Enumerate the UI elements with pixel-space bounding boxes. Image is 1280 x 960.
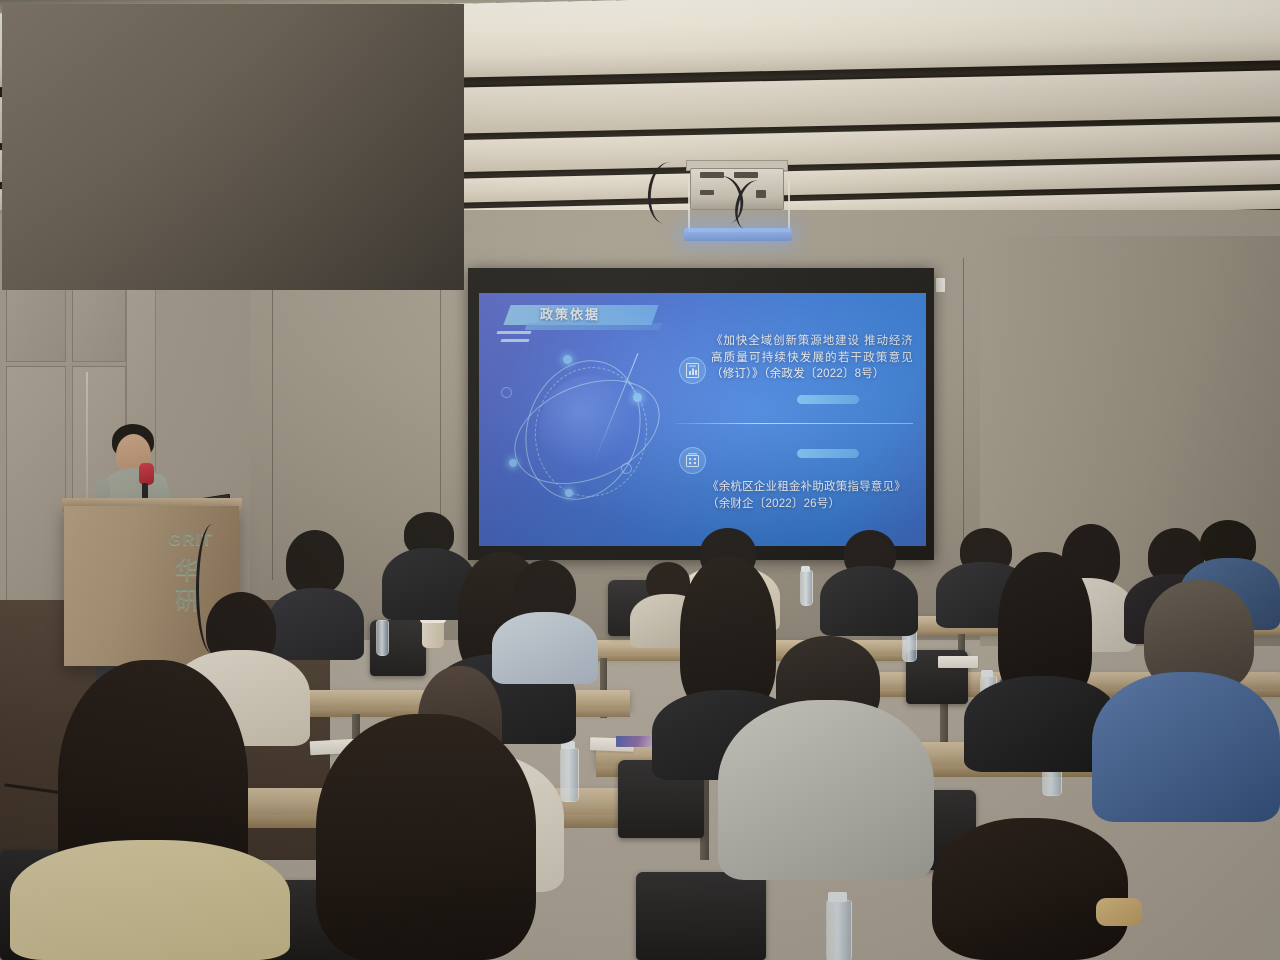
coffee-cup[interactable] <box>422 620 444 648</box>
slide-tick-1 <box>496 331 531 334</box>
water-bottle-1-cap <box>801 566 810 572</box>
slide-tick-2 <box>500 339 529 342</box>
handout-3[interactable] <box>938 656 978 668</box>
attendee-body <box>268 588 364 660</box>
document-building-icon <box>679 447 706 474</box>
water-bottle-6[interactable] <box>560 748 579 802</box>
screen-bezel <box>2 4 464 290</box>
orbital-node-2 <box>633 393 642 402</box>
orbital-node-hollow-2 <box>621 463 632 474</box>
attendee-hair <box>316 714 536 960</box>
orbital-ring-dashed <box>529 362 654 503</box>
attendee-hair <box>932 818 1128 960</box>
attendee-body <box>718 700 934 880</box>
water-bottle-4-cap <box>981 670 993 677</box>
slide-title-banner-underlay <box>525 323 663 330</box>
slide-title: 政策依据 <box>540 305 660 325</box>
slide-item-1-accent-bar <box>797 395 859 404</box>
wall-seam-1 <box>272 250 273 580</box>
slide-vignette <box>479 293 926 546</box>
attendee-body <box>820 566 918 636</box>
slide-item-1-text: 《加快全域创新策源地建设 推动经济高质量可持续快发展的若干政策意见（修订）》（余… <box>711 333 913 383</box>
slide-item-2-text: 《余杭区企业租金补助政策指导意见》（余财企〔2022〕26号） <box>707 479 915 512</box>
conference-room-photo: 政策依据 《加快全域创新策源地建设 <box>0 0 1280 960</box>
attendee-hair <box>286 530 344 594</box>
water-bottle-7[interactable] <box>376 620 389 656</box>
projected-slide: 政策依据 《加快全域创新策源地建设 <box>479 293 926 546</box>
attendee-body <box>1092 672 1280 822</box>
orbital-ring-2 <box>499 360 675 504</box>
attendee-hair <box>680 556 776 712</box>
chair-front-2[interactable] <box>636 872 766 960</box>
document-chart-icon <box>679 357 706 384</box>
slide-title-banner <box>503 305 658 325</box>
water-bottle-8-cap <box>828 892 847 902</box>
orbital-streak <box>593 353 639 465</box>
microphone[interactable] <box>139 463 154 485</box>
orbital-graphic <box>497 341 677 521</box>
water-bottle-8[interactable] <box>826 900 852 960</box>
orbital-node-4 <box>565 489 573 497</box>
orbital-node-hollow-1 <box>501 387 512 398</box>
wall-label-tag <box>936 278 945 292</box>
orbital-node-3 <box>509 459 517 467</box>
water-bottle-1[interactable] <box>800 570 813 606</box>
orbital-ring-1 <box>508 345 658 515</box>
slide-item-2-accent-bar <box>797 449 859 458</box>
booklet-3[interactable] <box>616 736 652 747</box>
hair-clip <box>1096 898 1142 926</box>
attendee-body <box>492 612 598 684</box>
orbital-node-1 <box>563 355 572 364</box>
slide-divider <box>675 423 913 424</box>
projector-lens <box>684 228 792 241</box>
orbital-core <box>539 375 643 479</box>
attendee-body <box>10 840 290 960</box>
